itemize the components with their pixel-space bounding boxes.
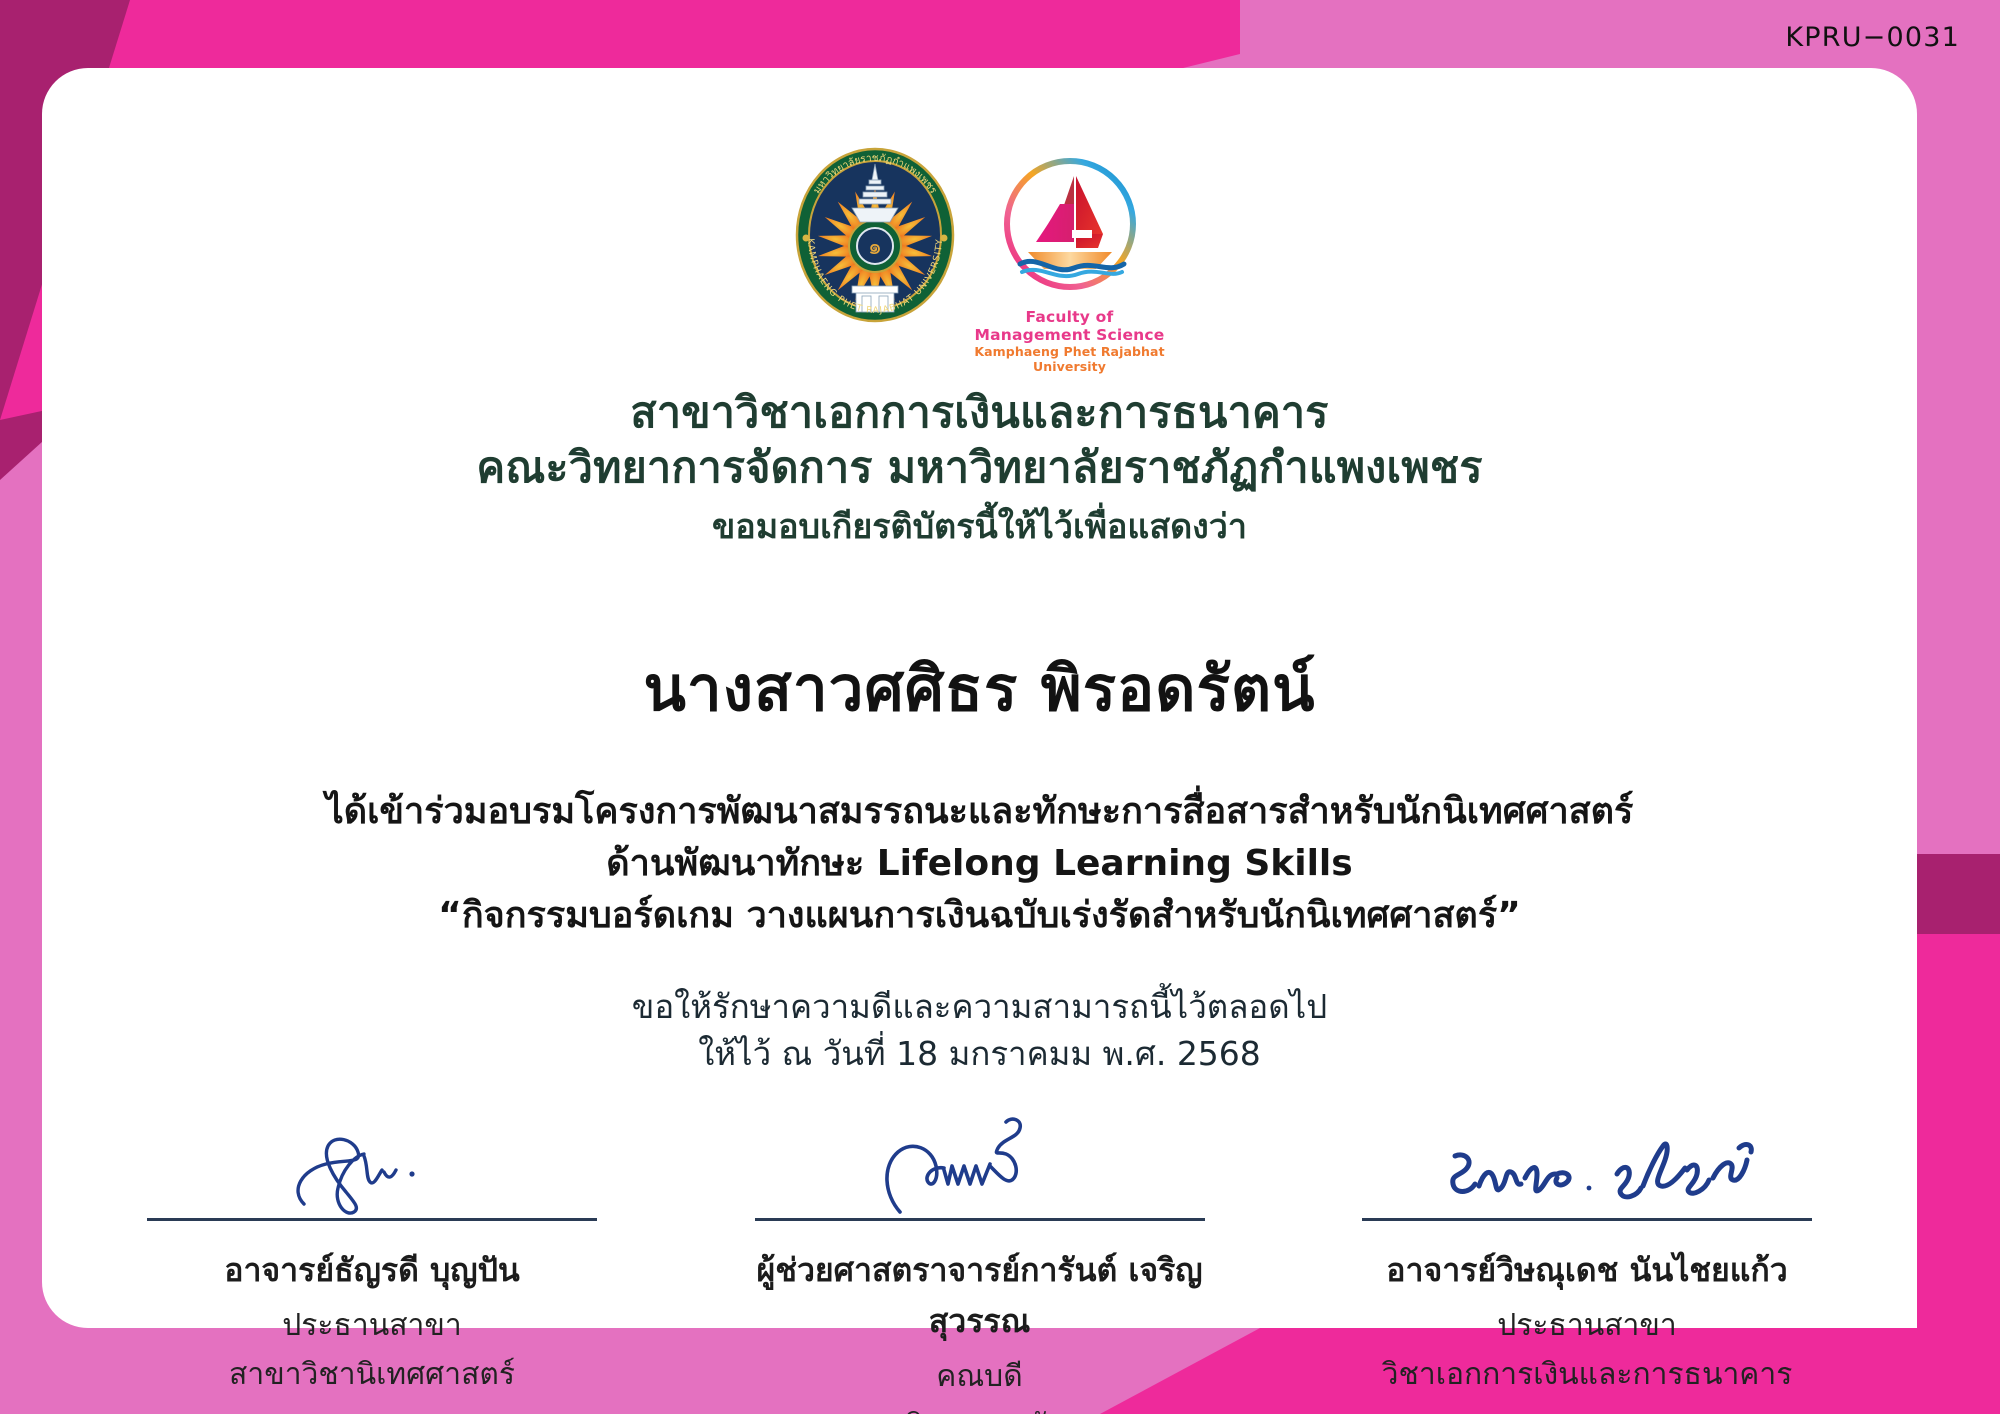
signature-name-1: อาจารย์ธัญรดี บุญปัน (102, 1245, 642, 1296)
signature-block-1: อาจารย์ธัญรดี บุญปัน ประธานสาขา สาขาวิชา… (102, 1108, 642, 1398)
faculty-logo-caption-sub: Kamphaeng Phet Rajabhat University (970, 344, 1170, 374)
signature-row: อาจารย์ธัญรดี บุญปัน ประธานสาขา สาขาวิชา… (102, 1108, 1857, 1414)
logo-row: ๑ (42, 146, 1917, 374)
heading-line-3: ขอมอบเกียรติบัตรนี้ให้ไว้เพื่อแสดงว่า (42, 502, 1917, 553)
heading-line-2: คณะวิทยาการจัดการ มหาวิทยาลัยราชภัฏกำแพง… (42, 441, 1917, 496)
certificate-serial-number: KPRU−0031 (1785, 22, 1960, 53)
kpru-university-seal-icon: ๑ (790, 146, 960, 324)
certificate-card: ๑ (42, 68, 1917, 1328)
faculty-logo-block: Faculty of Management Science Kamphaeng … (970, 146, 1170, 374)
signature-mark-2-icon (710, 1108, 1250, 1216)
faculty-logo-caption-en: Faculty of Management Science (970, 308, 1170, 344)
signature-rule-2 (755, 1218, 1205, 1221)
signature-org-2: คณะวิทยาการจัดการ (710, 1402, 1250, 1414)
closing-line-2: ให้ไว้ ณ วันที่ 18 มกราคมม พ.ศ. 2568 (42, 1031, 1917, 1078)
signature-mark-3-icon (1317, 1108, 1857, 1216)
signature-org-1: สาขาวิชานิเทศศาสตร์ (102, 1351, 642, 1398)
certificate-closing: ขอให้รักษาความดีและความสามารถนี้ไว้ตลอดไ… (42, 984, 1917, 1078)
certificate-page: KPRU−0031 (0, 0, 2000, 1414)
heading-line-1: สาขาวิชาเอกการเงินและการธนาคาร (42, 386, 1917, 441)
signature-block-2: ผู้ช่วยศาสตราจารย์การันต์ เจริญสุวรรณ คณ… (710, 1108, 1250, 1414)
recipient-name: นางสาวศศิธร พิรอดรัตน์ (42, 640, 1917, 738)
signature-role-2: คณบดี (710, 1353, 1250, 1400)
signature-name-3: อาจารย์วิษณุเดช นันไชยแก้ว (1317, 1245, 1857, 1296)
closing-line-1: ขอให้รักษาความดีและความสามารถนี้ไว้ตลอดไ… (42, 984, 1917, 1031)
signature-role-3: ประธานสาขา (1317, 1302, 1857, 1349)
signature-role-1: ประธานสาขา (102, 1302, 642, 1349)
svg-text:๑: ๑ (868, 235, 882, 260)
signature-mark-1-icon (102, 1108, 642, 1216)
certificate-body: ได้เข้าร่วมอบรมโครงการพัฒนาสมรรถนะและทัก… (42, 786, 1917, 943)
body-line-2: ด้านพัฒนาทักษะ Lifelong Learning Skills (42, 838, 1917, 890)
certificate-heading: สาขาวิชาเอกการเงินและการธนาคาร คณะวิทยาก… (42, 386, 1917, 553)
signature-org-3: วิชาเอกการเงินและการธนาคาร (1317, 1351, 1857, 1398)
signature-block-3: อาจารย์วิษณุเดช นันไชยแก้ว ประธานสาขา วิ… (1317, 1108, 1857, 1398)
body-line-3: “กิจกรรมบอร์ดเกม วางแผนการเงินฉบับเร่งรั… (42, 890, 1917, 942)
signature-rule-1 (147, 1218, 597, 1221)
signature-name-2: ผู้ช่วยศาสตราจารย์การันต์ เจริญสุวรรณ (710, 1245, 1250, 1347)
signature-rule-3 (1362, 1218, 1812, 1221)
body-line-1: ได้เข้าร่วมอบรมโครงการพัฒนาสมรรถนะและทัก… (42, 786, 1917, 838)
faculty-of-management-science-icon (970, 146, 1170, 306)
